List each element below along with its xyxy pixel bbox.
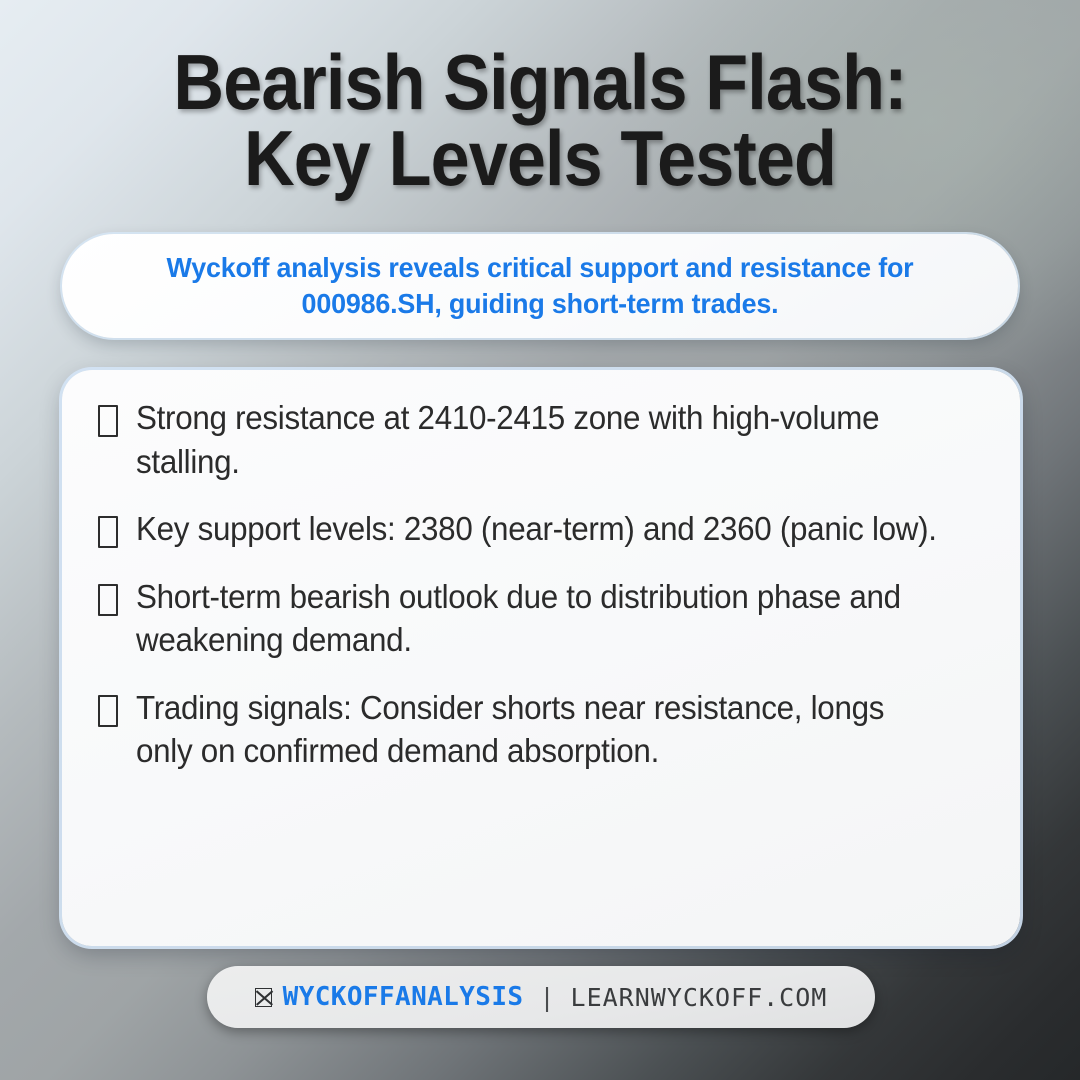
footer-separator: | <box>534 983 559 1012</box>
page-title: Bearish Signals Flash: Key Levels Tested <box>108 44 972 197</box>
tofu-box-icon <box>98 405 118 437</box>
list-item: Key support levels: 2380 (near-term) and… <box>98 507 986 551</box>
list-item: Short-term bearish outlook due to distri… <box>98 575 986 662</box>
footer-handle: WYCKOFFANALYSIS <box>283 982 524 1012</box>
missing-glyph-box-icon <box>255 988 272 1007</box>
subtitle-text: Wyckoff analysis reveals critical suppor… <box>116 250 965 323</box>
tofu-box-icon <box>98 516 118 548</box>
footer-branding-bar: WYCKOFFANALYSIS | LEARNWYCKOFF.COM <box>207 966 875 1028</box>
tofu-box-icon <box>98 695 118 727</box>
subtitle-card: Wyckoff analysis reveals critical suppor… <box>62 234 1018 338</box>
list-item: Trading signals: Consider shorts near re… <box>98 686 986 773</box>
key-points-card: Strong resistance at 2410-2415 zone with… <box>62 370 1020 946</box>
poster-canvas: Bearish Signals Flash: Key Levels Tested… <box>0 0 1080 1080</box>
list-item-text: Short-term bearish outlook due to distri… <box>136 575 944 662</box>
list-item: Strong resistance at 2410-2415 zone with… <box>98 396 986 483</box>
list-item-text: Strong resistance at 2410-2415 zone with… <box>136 396 944 483</box>
list-item-text: Key support levels: 2380 (near-term) and… <box>136 507 937 551</box>
tofu-box-icon <box>98 584 118 616</box>
footer-website: LEARNWYCKOFF.COM <box>571 983 828 1012</box>
list-item-text: Trading signals: Consider shorts near re… <box>136 686 944 773</box>
